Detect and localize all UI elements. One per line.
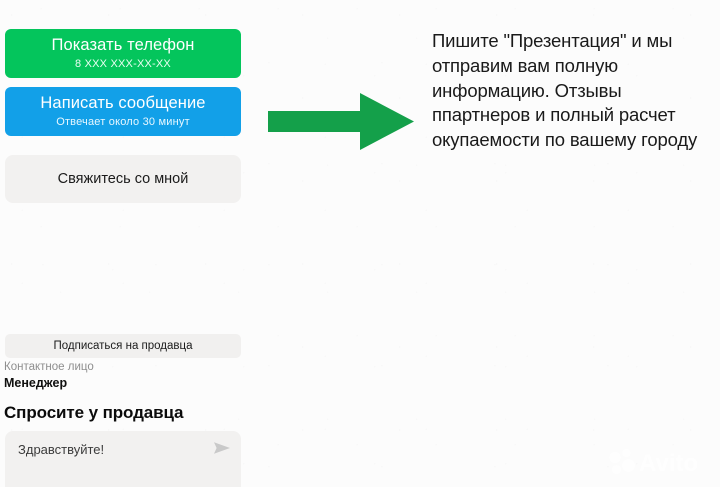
avito-watermark: Avito (606, 445, 710, 479)
show-phone-button-sublabel: 8 XXX XXX-XX-XX (75, 58, 171, 71)
ask-seller-input-placeholder: Здравствуйте! (18, 442, 104, 458)
screenshot-canvas: Показать телефон 8 XXX XXX-XX-XX Написат… (0, 0, 720, 487)
svg-text:Avito: Avito (639, 450, 698, 477)
write-message-button-sublabel: Отвечает около 30 минут (56, 116, 190, 129)
contact-person-label: Контактное лицо (4, 360, 244, 374)
contact-me-button[interactable]: Свяжитесь со мной (5, 155, 241, 203)
contact-person-block: Контактное лицо Менеджер (4, 360, 244, 391)
annotation-text: Пишите "Презентация" и мы отправим вам п… (432, 29, 700, 153)
show-phone-button-label: Показать телефон (52, 36, 195, 55)
show-phone-button[interactable]: Показать телефон 8 XXX XXX-XX-XX (5, 29, 241, 78)
contact-me-button-label: Свяжитесь со мной (58, 170, 189, 188)
ask-seller-input[interactable]: Здравствуйте! (5, 431, 241, 487)
contact-person-value: Менеджер (4, 376, 244, 391)
ask-seller-heading: Спросите у продавца (4, 402, 183, 423)
right-arrow-icon (268, 92, 414, 152)
send-icon[interactable] (212, 439, 232, 457)
subscribe-to-seller-button-label: Подписаться на продавца (54, 339, 193, 353)
write-message-button[interactable]: Написать сообщение Отвечает около 30 мин… (5, 87, 241, 136)
write-message-button-label: Написать сообщение (40, 94, 205, 113)
subscribe-to-seller-button[interactable]: Подписаться на продавца (5, 334, 241, 358)
